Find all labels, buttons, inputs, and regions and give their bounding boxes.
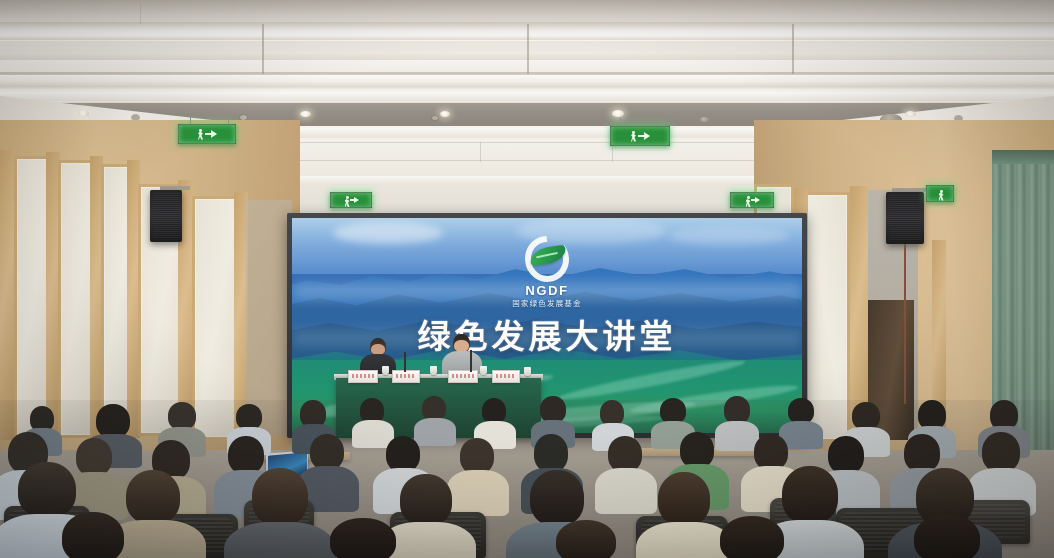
downlight-1 (78, 110, 89, 117)
logo-acronym: NGDF (525, 284, 568, 298)
curtain-rail-right (992, 150, 1054, 164)
ceiling-device-1 (700, 117, 709, 122)
cup-4 (524, 367, 531, 376)
name-card-1 (348, 370, 378, 383)
cup-1 (382, 366, 389, 375)
downlight-5 (905, 111, 916, 117)
arrow-right-icon (638, 131, 650, 141)
running-person-icon (745, 196, 750, 204)
exit-sign-2-face (611, 127, 669, 145)
inner-ceiling-line-1 (238, 142, 828, 143)
ceiling-rib-1 (262, 24, 264, 74)
running-person-icon (630, 131, 637, 142)
ngdf-leaf-circle-logo-icon (525, 236, 569, 282)
exit-sign-1 (178, 124, 236, 144)
exit-sign-2-stem-b (662, 118, 663, 126)
exit-sign-5 (926, 185, 954, 202)
downlight-3 (440, 111, 450, 117)
name-card-4 (492, 370, 520, 383)
logo-organization-name: 国家绿色发展基金 (512, 299, 582, 308)
wall-speaker-left (150, 190, 182, 242)
name-card-2 (392, 370, 420, 383)
ceiling-rib-3 (792, 24, 794, 74)
sprinkler-3 (432, 116, 438, 120)
name-card-3 (448, 370, 478, 383)
speaker-grille-right (889, 195, 921, 241)
cup-3 (480, 366, 487, 375)
exit-sign-1-face (179, 125, 235, 143)
exit-sign-3-face (331, 193, 371, 207)
arrow-right-icon (350, 196, 359, 204)
exit-sign-1-stem (190, 116, 191, 124)
conference-hall-photo: NGDF 国家绿色发展基金 绿色发展大讲堂 (0, 0, 1054, 558)
exit-sign-1-stem-b (228, 116, 229, 124)
speaker-pole-right (904, 244, 906, 404)
cup-2 (430, 366, 437, 375)
arrow-right-icon (205, 129, 217, 139)
microphone-2 (470, 350, 472, 372)
downlight-4 (612, 110, 624, 117)
inner-ceiling-coffer (238, 128, 828, 138)
exit-sign-4-face (731, 193, 773, 207)
ceiling-rib-4 (140, 4, 141, 24)
ceiling-rib-2 (527, 24, 529, 74)
running-person-icon (197, 129, 204, 140)
exit-sign-3 (330, 192, 372, 208)
arrow-right-icon (751, 196, 760, 204)
wall-speaker-right (886, 192, 924, 244)
inner-ceiling-line-2 (238, 160, 828, 161)
exit-sign-4 (730, 192, 774, 208)
exit-sign-5-face (927, 186, 953, 201)
running-person-icon (938, 190, 943, 198)
screen-logo: NGDF 国家绿色发展基金 (292, 236, 802, 308)
exit-sign-2 (610, 126, 670, 146)
inner-ceiling-line-3 (480, 142, 481, 162)
downlight-2 (300, 111, 311, 117)
exit-sign-2-stem (620, 118, 621, 126)
speaker-grille-left (153, 193, 179, 239)
running-person-icon (344, 196, 349, 204)
microphone-1 (404, 352, 406, 372)
